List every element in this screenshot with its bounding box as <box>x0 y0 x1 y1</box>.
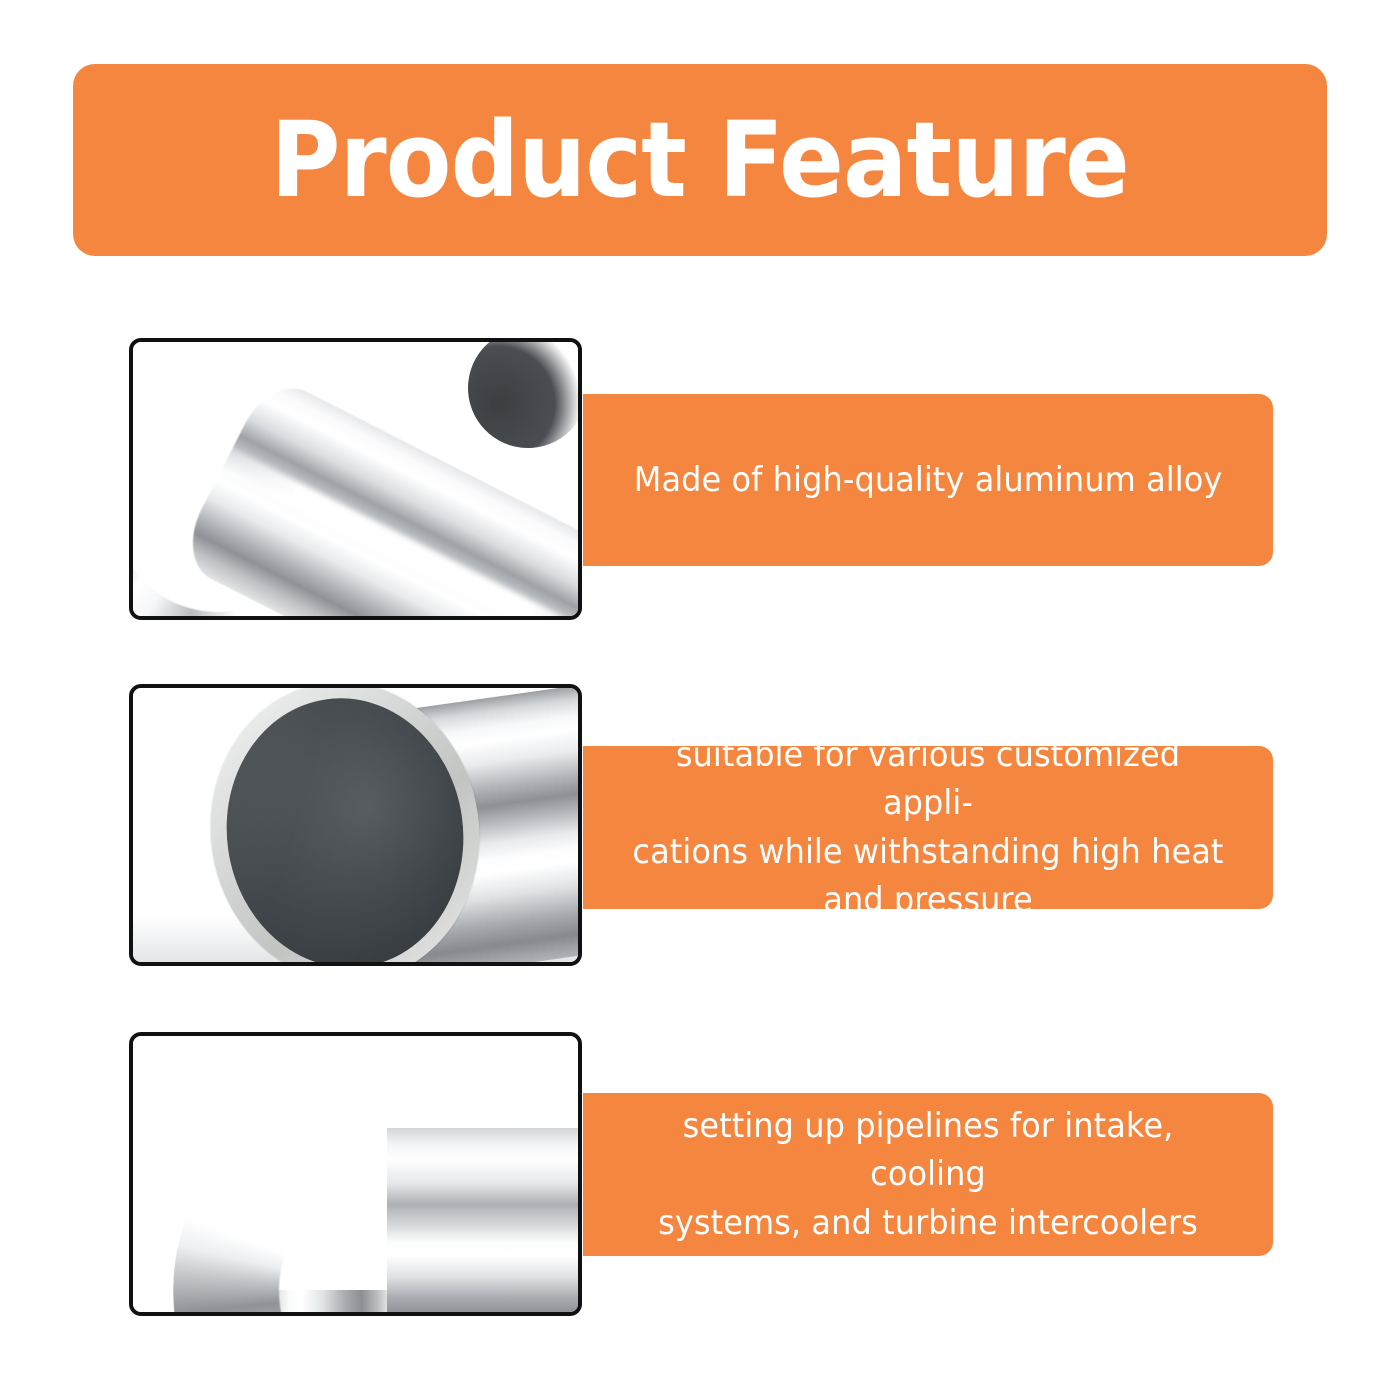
feature-caption-panel-1: Made of high-quality aluminum alloy <box>583 394 1273 566</box>
caption-line: cations while withstanding high heat <box>632 832 1223 872</box>
caption-line: setting up pipelines for intake, cooling <box>683 1106 1174 1194</box>
product-image-frame-3 <box>129 1032 582 1316</box>
feature-row: setting up pipelines for intake, cooling… <box>0 1032 1400 1316</box>
feature-caption-text-1: Made of high-quality aluminum alloy <box>634 456 1223 504</box>
elbow-curved-section <box>173 1076 578 1312</box>
caption-line: suitable for various customized appli- <box>676 735 1180 823</box>
feature-row: Made of high-quality aluminum alloy <box>0 338 1400 620</box>
product-photo-tube-end <box>133 688 578 962</box>
feature-caption-text-2: suitable for various customized appli- c… <box>628 731 1228 924</box>
product-photo-elbow-bend <box>133 1036 578 1312</box>
tube-shadow-tip <box>452 342 578 464</box>
caption-line: and pressure <box>823 880 1032 920</box>
product-image-frame-1 <box>129 338 582 620</box>
page-title: Product Feature <box>271 108 1129 212</box>
caption-line: systems, and turbine intercoolers <box>658 1203 1198 1243</box>
feature-caption-text-3: setting up pipelines for intake, cooling… <box>628 1102 1228 1247</box>
feature-row: suitable for various customized appli- c… <box>0 684 1400 966</box>
product-image-frame-2 <box>129 684 582 966</box>
product-photo-bent-tube <box>133 342 578 616</box>
header-banner: Product Feature <box>73 64 1327 256</box>
feature-caption-panel-3: setting up pipelines for intake, cooling… <box>583 1093 1273 1256</box>
feature-caption-panel-2: suitable for various customized appli- c… <box>583 746 1273 909</box>
